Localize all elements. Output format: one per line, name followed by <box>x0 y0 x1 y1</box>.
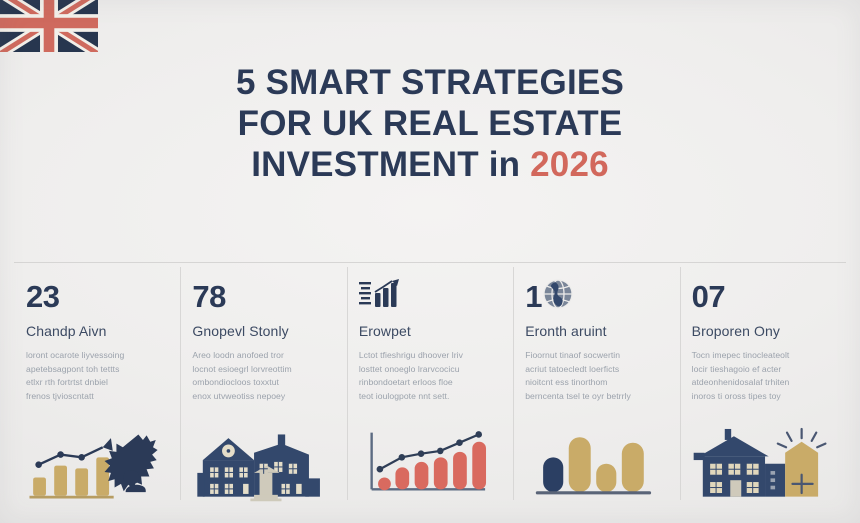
title-line-1: 5 SMART STRATEGIES <box>0 62 860 103</box>
card-body-line: ombondiocloos toxxtut <box>192 376 334 390</box>
red-bar-chart-line-icon <box>357 420 503 504</box>
card-body-line: berncenta tsel te oyr betrrly <box>525 390 667 404</box>
card-body-line: locnot esioegrl lorvreottim <box>192 363 334 377</box>
page-title: 5 SMART STRATEGIES FOR UK REAL ESTATE IN… <box>0 62 860 185</box>
card-heading: Erowpet <box>359 322 501 340</box>
card-body-line: enox utvweotiss nepoey <box>192 390 334 404</box>
bar-chart-with-uk-map-icon <box>24 420 170 504</box>
uk-map-silhouette <box>105 434 158 492</box>
card-body-line: losttet onoeglo lrarvcocicu <box>359 363 501 377</box>
card-number: 23 <box>26 280 168 314</box>
union-jack-flag <box>0 0 98 52</box>
strategy-card[interactable]: 78 Gnopevl Stonly Areo loodn anofoed tro… <box>180 262 346 512</box>
strategy-card-strip: 23 Chandp Aivn loront ocarote liyvessoin… <box>14 262 846 512</box>
manor-house-icon <box>190 420 336 504</box>
strategy-card[interactable]: 23 Chandp Aivn loront ocarote liyvessoin… <box>14 262 180 512</box>
card-body-line: rinbondoetart erloos floe <box>359 376 501 390</box>
card-heading: Chandp Aivn <box>26 322 168 340</box>
strategy-card[interactable]: 1 Eronth aruint Fioornut tinaof socwert <box>513 262 679 512</box>
card-body-line: Lctot tfieshrigu dhoover lriv <box>359 349 501 363</box>
title-line-3: INVESTMENT in 2026 <box>0 144 860 185</box>
card-body-line: inoros ti oross tipes toy <box>692 390 834 404</box>
strategy-card[interactable]: 07 Broporen Ony Tocn imepec tinocleateol… <box>680 262 846 512</box>
card-number-text: 1 <box>525 280 542 314</box>
gold-navy-bars-icon <box>523 420 669 504</box>
card-body-line: Areo loodn anofoed tror <box>192 349 334 363</box>
card-body-line: acriut tatoecledt loerficts <box>525 363 667 377</box>
globe-icon <box>542 278 574 317</box>
growth-chart-glyph-icon <box>359 279 401 316</box>
card-number: 1 <box>525 280 667 314</box>
card-body-line: loront ocarote liyvessoing <box>26 349 168 363</box>
card-body-line: atdeonhenidosalaf trhiten <box>692 376 834 390</box>
card-heading: Eronth aruint <box>525 322 667 340</box>
card-body-line: frenos tjvioscntatt <box>26 390 168 404</box>
title-line-2: FOR UK REAL ESTATE <box>0 103 860 144</box>
card-body-text: Tocn imepec tinocleateolt locir tieshago… <box>692 349 834 403</box>
card-body-text: Fioornut tinaof socwertin acriut tatoecl… <box>525 349 667 403</box>
strategy-card[interactable]: Erowpet Lctot tfieshrigu dhoover lriv lo… <box>347 262 513 512</box>
card-body-text: Areo loodn anofoed tror locnot esioegrl … <box>192 349 334 403</box>
card-body-line: locir tieshagoio ef acter <box>692 363 834 377</box>
card-heading: Gnopevl Stonly <box>192 322 334 340</box>
card-number-text: 78 <box>192 280 225 314</box>
card-body-text: loront ocarote liyvessoing apetebsagpont… <box>26 349 168 403</box>
card-number: 78 <box>192 280 334 314</box>
title-year: 2026 <box>530 145 609 184</box>
card-number-text: 23 <box>26 280 59 314</box>
card-body-line: teot ioulogpote nnt sett. <box>359 390 501 404</box>
card-number-text: 07 <box>692 280 725 314</box>
card-heading: Broporen Ony <box>692 322 834 340</box>
card-body-line: etlxr rth fortrtst dnbiel <box>26 376 168 390</box>
card-number: 07 <box>692 280 834 314</box>
card-body-line: Tocn imepec tinocleateolt <box>692 349 834 363</box>
house-with-gold-tag-icon <box>690 420 836 504</box>
card-body-line: apetebsagpont toh tettts <box>26 363 168 377</box>
card-body-line: Fioornut tinaof socwertin <box>525 349 667 363</box>
card-body-text: Lctot tfieshrigu dhoover lriv losttet on… <box>359 349 501 403</box>
title-line-3-main: INVESTMENT in <box>251 145 530 184</box>
card-number <box>359 280 501 314</box>
card-body-line: nioitcnt ess tinorthom <box>525 376 667 390</box>
